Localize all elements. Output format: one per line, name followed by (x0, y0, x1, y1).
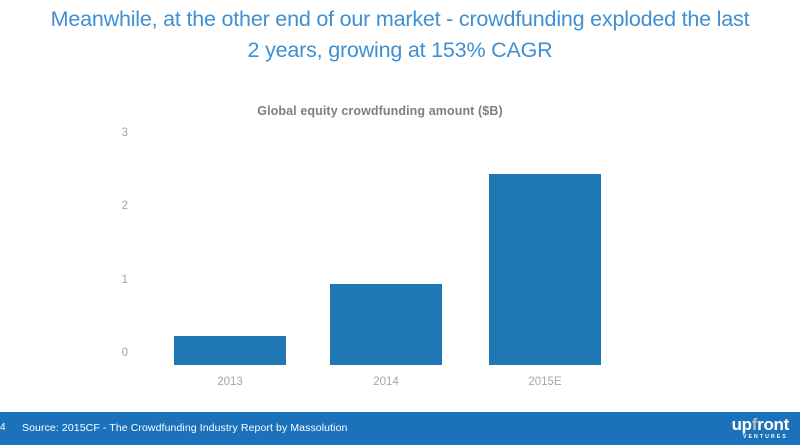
x-axis-label-2013: 2013 (174, 376, 286, 388)
page-number: 4 (0, 422, 6, 433)
bar-2015e[interactable] (489, 174, 601, 365)
bar-chart: Global equity crowdfunding amount ($B) 3… (0, 95, 800, 400)
upfront-ventures-logo: upfront VENTURES (732, 416, 789, 440)
slide-footer: 4 Source: 2015CF - The Crowdfunding Indu… (0, 412, 800, 445)
source-citation: Source: 2015CF - The Crowdfunding Indust… (22, 422, 347, 434)
logo-word-part-1: up (732, 415, 752, 434)
slide-headline: Meanwhile, at the other end of our marke… (0, 4, 800, 66)
x-axis-label-2015e: 2015E (489, 376, 601, 388)
logo-word-part-2: ront (757, 415, 789, 434)
y-axis-tick-2: 2 (122, 200, 128, 212)
logo-wordmark: upfront (732, 416, 789, 433)
y-axis-tick-0: 0 (122, 347, 128, 359)
bar-2014[interactable] (330, 284, 442, 365)
chart-title: Global equity crowdfunding amount ($B) (0, 104, 760, 118)
bar-2013[interactable] (174, 336, 286, 365)
x-axis-label-2014: 2014 (330, 376, 442, 388)
plot-area: 3 2 1 0 0.4 2013 1.1 2014 2.6 2015E (140, 145, 635, 415)
logo-subtitle: VENTURES (732, 435, 788, 440)
y-axis-tick-3: 3 (122, 127, 128, 139)
y-axis-tick-1: 1 (122, 274, 128, 286)
